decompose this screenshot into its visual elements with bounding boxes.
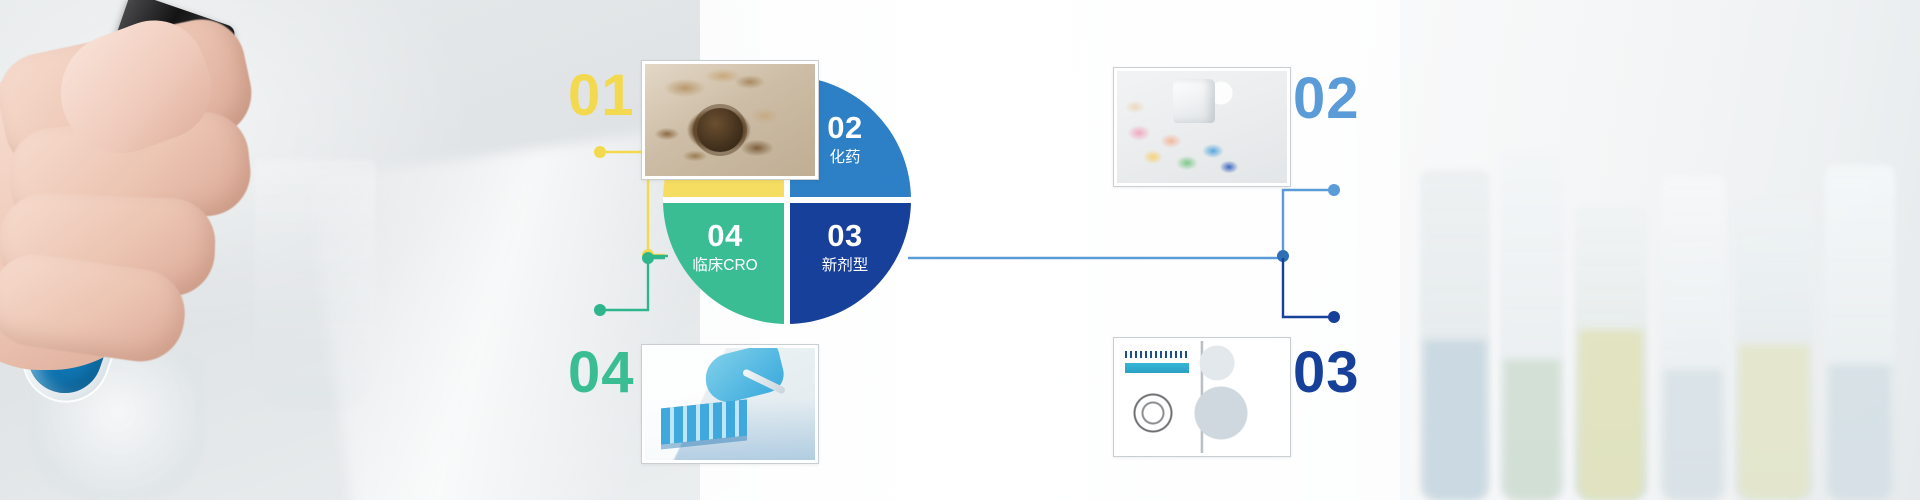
lab-glove-shape: [700, 348, 787, 407]
quadrant-03-label-group: 03 新剂型: [793, 220, 897, 274]
banner-stage: 01 中药 02 化药 04 临床CRO 03 新剂型 01 02 03 04: [0, 0, 1920, 500]
callout-03-number: 03: [1293, 344, 1360, 402]
callout-04-number: 04: [568, 344, 635, 402]
callout-02-photo[interactable]: [1113, 67, 1291, 187]
wheel-divider-horizontal: [663, 197, 911, 203]
lab-pipetting-photo: [645, 348, 815, 460]
quadrant-03-number: 03: [793, 220, 897, 253]
quadrant-04-text: 临床CRO: [671, 258, 779, 274]
quadrant-03-text: 新剂型: [793, 258, 897, 274]
callout-03-photo[interactable]: [1113, 337, 1291, 457]
callout-01-number: 01: [568, 67, 635, 125]
connector-lines: [0, 0, 1920, 500]
quadrant-04-number: 04: [671, 220, 779, 253]
device-schematic-photo: [1117, 341, 1287, 453]
callout-02-number: 02: [1293, 70, 1360, 128]
pills-capsules-photo: [1117, 71, 1287, 183]
quadrant-04-label-group: 04 临床CRO: [671, 220, 779, 274]
callout-01-photo[interactable]: [641, 60, 819, 180]
callout-04-photo[interactable]: [641, 344, 819, 464]
dried-herbs-photo: [645, 64, 815, 176]
